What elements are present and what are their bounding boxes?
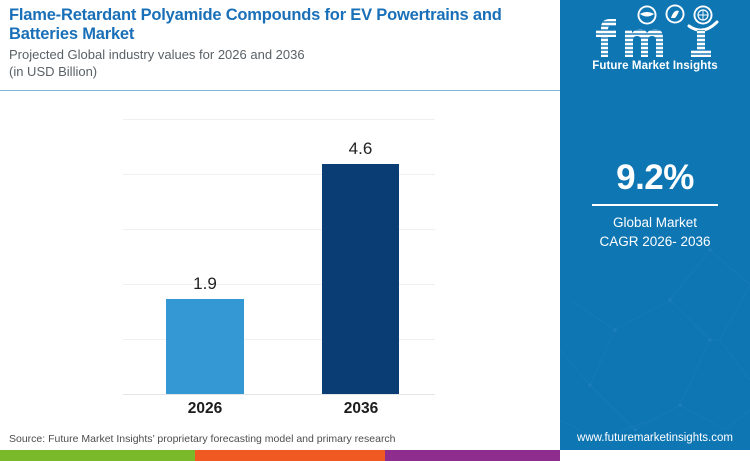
cagr-value: 9.2% [560,158,750,198]
footer-color-bar [0,450,560,461]
category-label-2036: 2036 [312,400,410,418]
gridline [123,119,435,120]
cagr-divider [592,204,718,206]
category-label-2026: 2026 [156,400,254,418]
source-note: Source: Future Market Insights’ propriet… [9,433,396,445]
subtitle-line-1: Projected Global industry values for 202… [9,47,549,64]
cagr-label-global-market: Global Market [560,215,750,230]
brand-panel: Future Market Insights 9.2% Global Marke… [560,0,750,450]
fmi-logo-text: Future Market Insights [560,60,750,72]
bar-2026 [166,299,244,394]
header: Flame-Retardant Polyamide Compounds for … [0,0,560,90]
fmi-logo: Future Market Insights [560,4,750,72]
color-bar-segment-orange [195,450,385,461]
fmi-logo-icon [585,4,725,58]
bar-value-2036: 4.6 [322,139,399,159]
color-bar-segment-purple [385,450,560,461]
website-url: www.futuremarketinsights.com [560,432,750,444]
subtitle-line-2: (in USD Billion) [9,64,549,81]
cagr-label-period: CAGR 2026- 2036 [560,234,750,249]
color-bar-segment-green [0,450,195,461]
page-subtitle: Projected Global industry values for 202… [9,47,549,80]
bar-chart: 1.9 4.6 2026 2036 [0,91,560,425]
page-title: Flame-Retardant Polyamide Compounds for … [9,6,549,45]
bar-value-2026: 1.9 [166,274,244,294]
infographic-page: Flame-Retardant Polyamide Compounds for … [0,0,750,461]
axis-baseline [123,394,435,395]
bar-2036 [322,164,399,394]
